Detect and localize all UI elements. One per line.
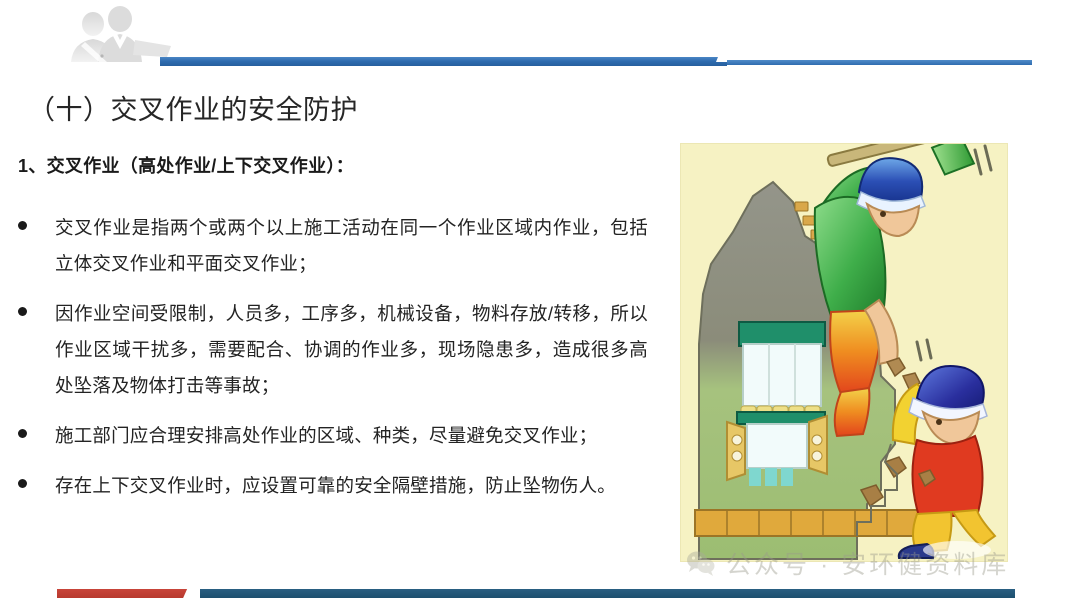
list-item-text: 施工部门应合理安排高处作业的区域、种类，尽量避免交叉作业； [55, 418, 648, 454]
list-item: 交叉作业是指两个或两个以上施工活动在同一个作业区域内作业，包括立体交叉作业和平面… [18, 210, 648, 282]
list-item-text: 存在上下交叉作业时，应设置可靠的安全隔壁措施，防止坠物伤人。 [55, 468, 648, 504]
header-decoration [0, 0, 1080, 80]
section-title: 1、交叉作业（高处作业/上下交叉作业）： [18, 152, 354, 178]
list-item: 因作业空间受限制，人员多，工序多，机械设备，物料存放/转移，所以作业区域干扰多，… [18, 296, 648, 404]
list-item-text: 因作业空间受限制，人员多，工序多，机械设备，物料存放/转移，所以作业区域干扰多，… [55, 296, 648, 404]
bullet-dot-icon [18, 479, 27, 488]
header-accent-bar-primary [160, 57, 727, 66]
people-silhouette-icon [55, 6, 195, 62]
cross-operation-illustration [680, 143, 1008, 562]
list-item-text: 交叉作业是指两个或两个以上施工活动在同一个作业区域内作业，包括立体交叉作业和平面… [55, 210, 648, 282]
wechat-icon [686, 550, 716, 576]
window-upper [739, 322, 825, 423]
page-title: （十）交叉作业的安全防护 [28, 88, 358, 127]
list-item: 存在上下交叉作业时，应设置可靠的安全隔壁措施，防止坠物伤人。 [18, 468, 648, 504]
bullet-dot-icon [18, 429, 27, 438]
bullet-dot-icon [18, 307, 27, 316]
bullet-dot-icon [18, 221, 27, 230]
watermark: 公众号 · 安环健资料库 [686, 545, 1009, 581]
footer-accent-bar-red [57, 589, 197, 598]
header-accent-bar-secondary [727, 60, 1032, 65]
footer-accent-bar-blue [200, 589, 1015, 598]
watermark-text: 公众号 · 安环健资料库 [726, 545, 1009, 581]
list-item: 施工部门应合理安排高处作业的区域、种类，尽量避免交叉作业； [18, 418, 648, 454]
slide-canvas: （十）交叉作业的安全防护 1、交叉作业（高处作业/上下交叉作业）： 交叉作业是指… [0, 0, 1080, 608]
bullet-list: 交叉作业是指两个或两个以上施工活动在同一个作业区域内作业，包括立体交叉作业和平面… [18, 210, 648, 518]
